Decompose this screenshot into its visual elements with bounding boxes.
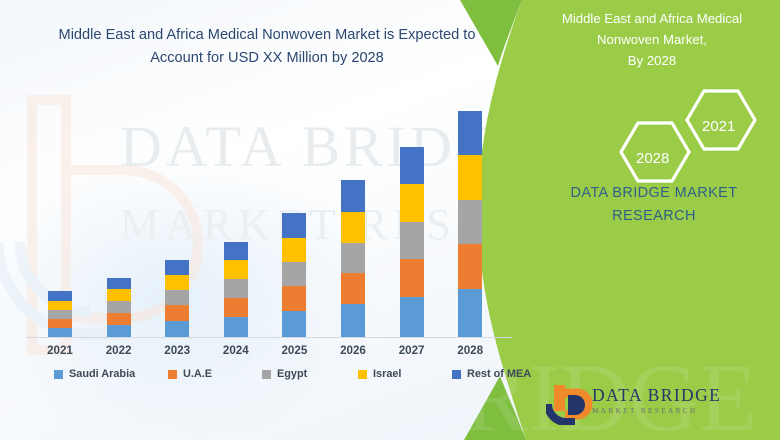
bar-segment-u-a-e-2023[interactable] bbox=[165, 305, 189, 321]
brand-line-2: RESEARCH bbox=[530, 205, 778, 228]
hexagon-group: 2021 2028 bbox=[592, 88, 772, 188]
legend-item-rest-of-mea[interactable]: Rest of MEA bbox=[452, 368, 531, 380]
bar-2026[interactable] bbox=[341, 180, 365, 337]
green-panel-brand: DATA BRIDGE MARKET RESEARCH bbox=[530, 182, 778, 228]
bar-segment-rest-of-mea-2027[interactable] bbox=[400, 147, 424, 184]
legend-swatch-icon bbox=[54, 370, 63, 379]
bar-segment-israel-2026[interactable] bbox=[341, 212, 365, 243]
legend-swatch-icon bbox=[168, 370, 177, 379]
bar-segment-egypt-2021[interactable] bbox=[48, 310, 72, 319]
bar-segment-u-a-e-2024[interactable] bbox=[224, 298, 248, 317]
bar-segment-rest-of-mea-2022[interactable] bbox=[107, 278, 131, 289]
bar-2021[interactable] bbox=[48, 291, 72, 337]
legend-label: Rest of MEA bbox=[467, 368, 531, 380]
x-tick-2021: 2021 bbox=[30, 344, 90, 357]
bar-segment-saudi-arabia-2025[interactable] bbox=[282, 311, 306, 337]
bar-segment-saudi-arabia-2021[interactable] bbox=[48, 328, 72, 337]
bar-segment-saudi-arabia-2024[interactable] bbox=[224, 317, 248, 337]
bar-segment-u-a-e-2026[interactable] bbox=[341, 273, 365, 304]
legend-label: Israel bbox=[373, 368, 401, 380]
bar-segment-saudi-arabia-2026[interactable] bbox=[341, 304, 365, 337]
bar-segment-u-a-e-2021[interactable] bbox=[48, 319, 72, 328]
dbmr-logo-text: DATA BRIDGE MARKET RESEARCH bbox=[592, 385, 721, 415]
green-title-line-3: By 2028 bbox=[530, 50, 774, 71]
bar-segment-u-a-e-2028[interactable] bbox=[458, 244, 482, 289]
bar-segment-israel-2025[interactable] bbox=[282, 238, 306, 262]
x-tick-2024: 2024 bbox=[206, 344, 266, 357]
legend-item-israel[interactable]: Israel bbox=[358, 368, 401, 380]
bar-segment-egypt-2026[interactable] bbox=[341, 243, 365, 273]
legend-item-egypt[interactable]: Egypt bbox=[262, 368, 307, 380]
bar-segment-israel-2028[interactable] bbox=[458, 155, 482, 200]
bar-segment-rest-of-mea-2028[interactable] bbox=[458, 111, 482, 155]
bar-segment-egypt-2028[interactable] bbox=[458, 200, 482, 244]
bar-segment-rest-of-mea-2021[interactable] bbox=[48, 291, 72, 301]
logo-name: DATA BRIDGE bbox=[592, 385, 721, 406]
bar-segment-egypt-2025[interactable] bbox=[282, 262, 306, 286]
bar-2023[interactable] bbox=[165, 260, 189, 337]
logo-subtitle: MARKET RESEARCH bbox=[592, 407, 721, 415]
bar-segment-u-a-e-2022[interactable] bbox=[107, 313, 131, 325]
x-tick-2025: 2025 bbox=[264, 344, 324, 357]
x-tick-2023: 2023 bbox=[147, 344, 207, 357]
bar-segment-egypt-2027[interactable] bbox=[400, 222, 424, 259]
bar-2024[interactable] bbox=[224, 242, 248, 337]
brand-line-1: DATA BRIDGE MARKET bbox=[530, 182, 778, 205]
hex-label-2021: 2021 bbox=[702, 118, 735, 135]
legend-label: U.A.E bbox=[183, 368, 212, 380]
bar-segment-rest-of-mea-2026[interactable] bbox=[341, 180, 365, 212]
green-title-line-2: Nonwoven Market, bbox=[530, 29, 774, 50]
legend-swatch-icon bbox=[358, 370, 367, 379]
x-tick-2026: 2026 bbox=[323, 344, 383, 357]
x-tick-2028: 2028 bbox=[440, 344, 500, 357]
bar-segment-rest-of-mea-2023[interactable] bbox=[165, 260, 189, 275]
bar-segment-saudi-arabia-2028[interactable] bbox=[458, 289, 482, 337]
bar-2027[interactable] bbox=[400, 147, 424, 337]
bar-segment-egypt-2023[interactable] bbox=[165, 290, 189, 305]
bar-2025[interactable] bbox=[282, 213, 306, 337]
bar-segment-israel-2024[interactable] bbox=[224, 260, 248, 279]
legend-label: Saudi Arabia bbox=[69, 368, 135, 380]
bar-segment-egypt-2022[interactable] bbox=[107, 301, 131, 313]
legend-item-u-a-e[interactable]: U.A.E bbox=[168, 368, 212, 380]
x-tick-2027: 2027 bbox=[382, 344, 442, 357]
bar-segment-rest-of-mea-2025[interactable] bbox=[282, 213, 306, 238]
hex-label-2028: 2028 bbox=[636, 150, 669, 167]
bar-2028[interactable] bbox=[458, 111, 482, 337]
bar-segment-israel-2027[interactable] bbox=[400, 184, 424, 222]
legend-label: Egypt bbox=[277, 368, 307, 380]
green-panel-title: Middle East and Africa Medical Nonwoven … bbox=[530, 8, 774, 71]
x-tick-2022: 2022 bbox=[89, 344, 149, 357]
infographic-root: DATA BRIDGE MARKET RESEARCH BRIDGE Middl… bbox=[0, 0, 780, 440]
x-axis-line bbox=[26, 337, 512, 338]
bar-segment-saudi-arabia-2027[interactable] bbox=[400, 297, 424, 337]
bar-segment-israel-2021[interactable] bbox=[48, 301, 72, 310]
green-title-line-1: Middle East and Africa Medical bbox=[530, 8, 774, 29]
bar-2022[interactable] bbox=[107, 278, 131, 337]
bar-segment-israel-2023[interactable] bbox=[165, 275, 189, 290]
bar-segment-saudi-arabia-2022[interactable] bbox=[107, 325, 131, 337]
bar-segment-egypt-2024[interactable] bbox=[224, 279, 248, 298]
bar-segment-u-a-e-2025[interactable] bbox=[282, 286, 306, 311]
bar-segment-israel-2022[interactable] bbox=[107, 289, 131, 301]
legend-swatch-icon bbox=[452, 370, 461, 379]
legend-swatch-icon bbox=[262, 370, 271, 379]
legend-item-saudi-arabia[interactable]: Saudi Arabia bbox=[54, 368, 135, 380]
bar-segment-saudi-arabia-2023[interactable] bbox=[165, 321, 189, 337]
bar-segment-rest-of-mea-2024[interactable] bbox=[224, 242, 248, 260]
bar-segment-u-a-e-2027[interactable] bbox=[400, 259, 424, 297]
